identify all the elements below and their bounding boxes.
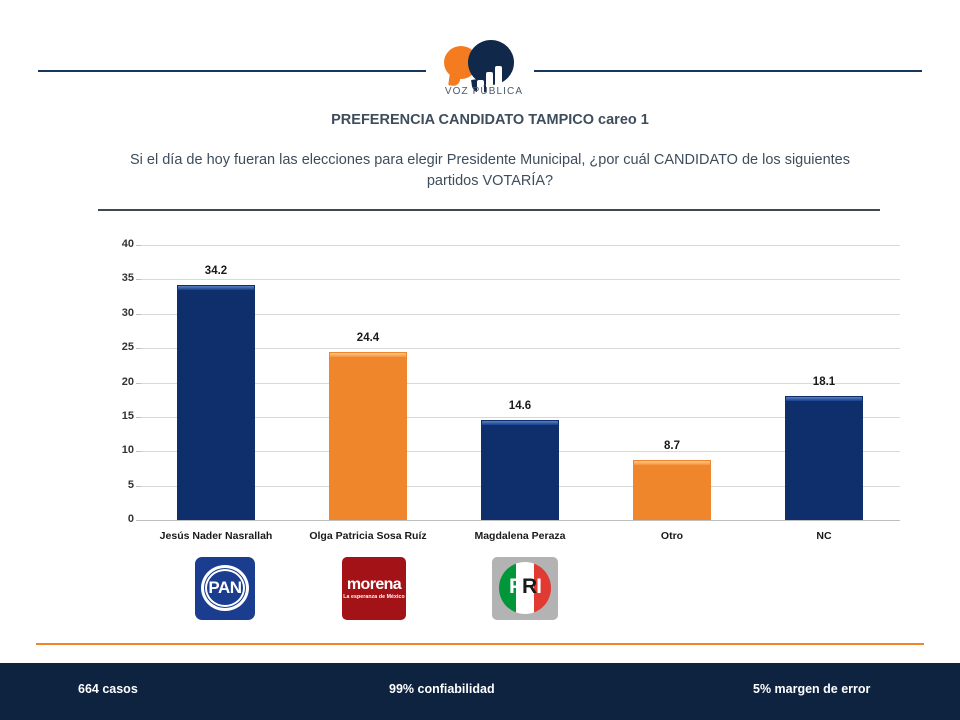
y-axis-tick-label: 0 [104, 513, 134, 525]
y-axis-tick-mark [136, 417, 141, 418]
y-axis-tick-mark [136, 279, 141, 280]
party-logo-morena: morena La esperanza de México [334, 557, 416, 623]
bar-1[interactable] [177, 285, 255, 520]
footer-cases: 664 casos [78, 682, 138, 696]
x-axis-category-label: Magdalena Peraza [444, 530, 596, 542]
pri-badge: PRI [492, 557, 558, 620]
morena-badge: morena La esperanza de México [342, 557, 406, 620]
pri-letter-i: I [536, 575, 541, 598]
bar-value-label: 24.4 [328, 332, 408, 344]
x-axis-category-label: NC [748, 530, 900, 542]
footer-divider [36, 643, 924, 645]
y-axis-tick-label: 35 [104, 272, 134, 284]
party-logo-pan: PAN [184, 557, 266, 623]
bar-value-label: 34.2 [176, 265, 256, 277]
y-axis-tick-mark [136, 451, 141, 452]
morena-label: morena [342, 576, 406, 594]
y-axis-tick-label: 25 [104, 341, 134, 353]
gridline [140, 279, 900, 280]
pri-letter-r: R [522, 575, 536, 598]
morena-tagline: La esperanza de México [342, 594, 406, 600]
bar-value-label: 14.6 [480, 400, 560, 412]
bar-value-label: 8.7 [632, 440, 712, 452]
party-logo-pri: PRI [484, 557, 566, 623]
y-axis-tick-label: 20 [104, 376, 134, 388]
gridline [140, 245, 900, 246]
pri-label: PRI [492, 575, 558, 599]
y-axis-tick-label: 15 [104, 410, 134, 422]
x-axis-category-label: Olga Patricia Sosa Ruíz [292, 530, 444, 542]
y-axis-tick-mark [136, 520, 141, 521]
footer-confidence: 99% confiabilidad [389, 682, 495, 696]
bar-4[interactable] [633, 460, 711, 520]
footer-bar: 664 casos 99% confiabilidad 5% margen de… [0, 663, 960, 720]
axis-baseline [140, 520, 900, 521]
bar-5[interactable] [785, 396, 863, 520]
y-axis-tick-mark [136, 314, 141, 315]
bar-3[interactable] [481, 420, 559, 520]
y-axis-tick-label: 40 [104, 238, 134, 250]
y-axis-tick-label: 10 [104, 444, 134, 456]
y-axis-tick-label: 5 [104, 479, 134, 491]
y-axis-tick-label: 30 [104, 307, 134, 319]
bar-chart: 051015202530354034.2Jesús Nader Nasralla… [0, 0, 960, 720]
bar-2[interactable] [329, 352, 407, 520]
pan-label: PAN [195, 578, 255, 598]
bar-value-label: 18.1 [784, 376, 864, 388]
y-axis-tick-mark [136, 383, 141, 384]
y-axis-tick-mark [136, 486, 141, 487]
x-axis-category-label: Otro [596, 530, 748, 542]
pri-letter-p: P [509, 575, 522, 598]
pan-badge: PAN [195, 557, 255, 620]
y-axis-tick-mark [136, 348, 141, 349]
footer-margin-of-error: 5% margen de error [753, 682, 870, 696]
x-axis-category-label: Jesús Nader Nasrallah [140, 530, 292, 542]
y-axis-tick-mark [136, 245, 141, 246]
